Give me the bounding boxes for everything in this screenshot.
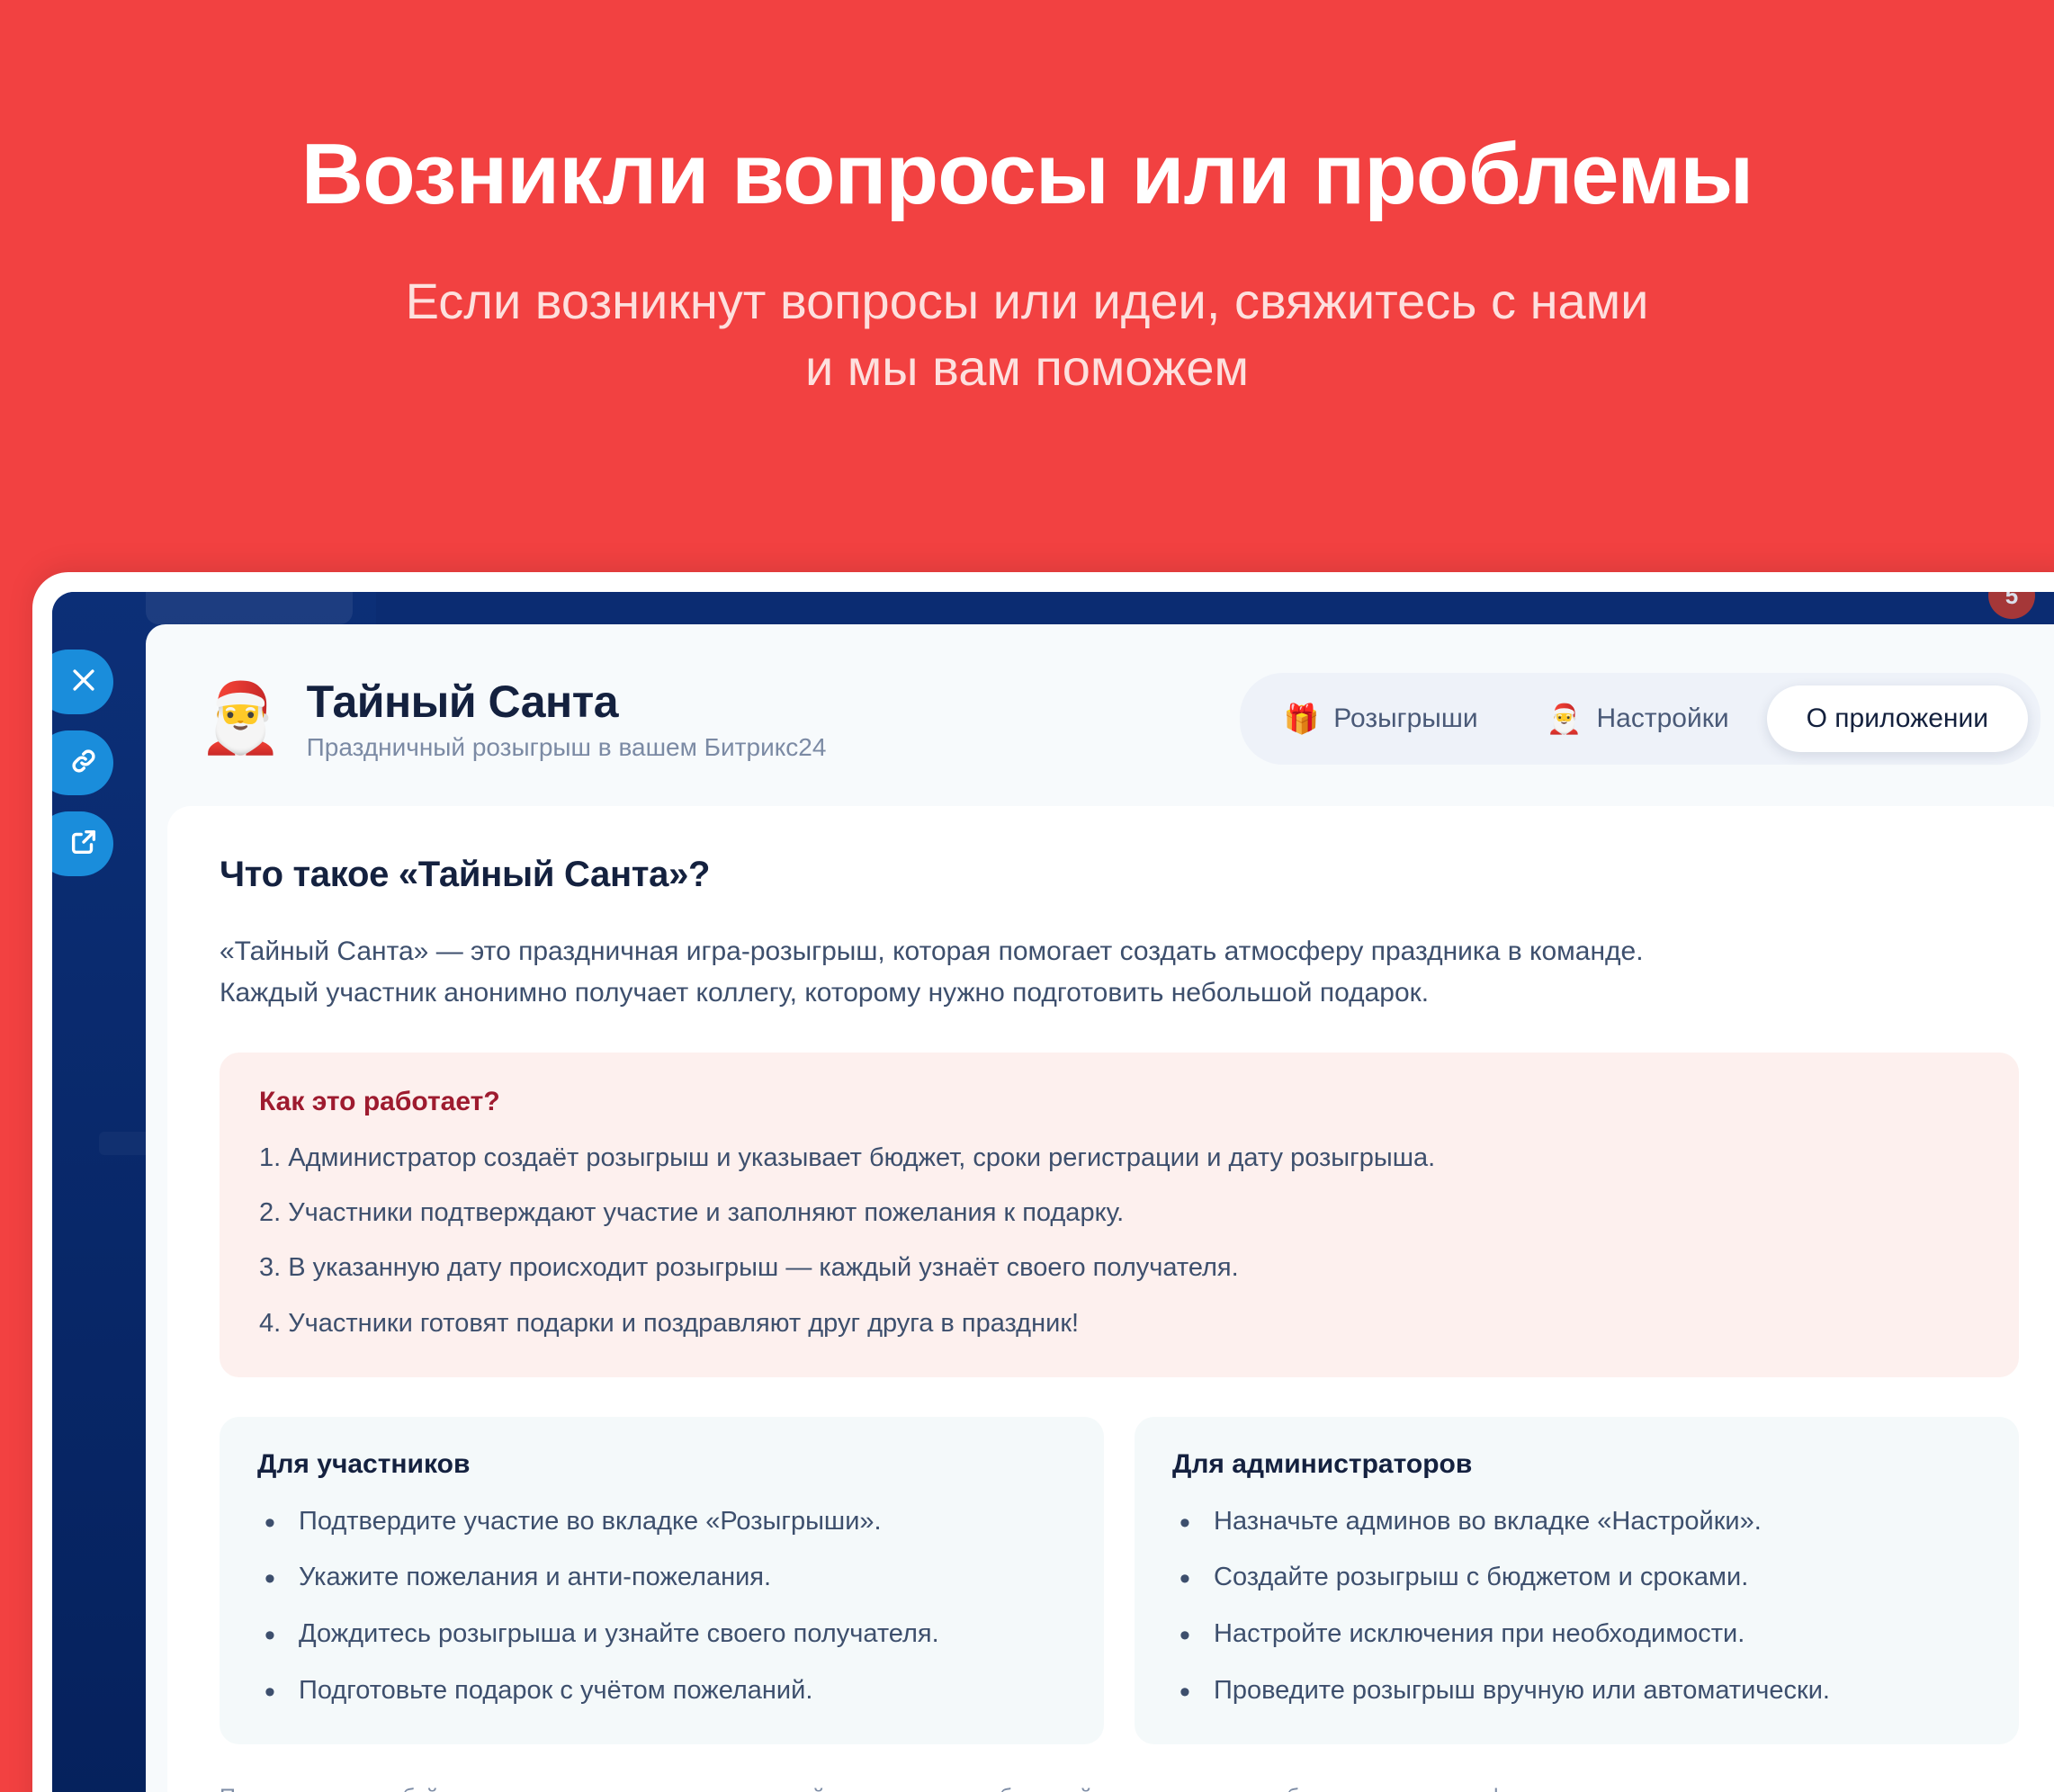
admins-list: Назначьте админов во вкладке «Настройки»… — [1172, 1505, 1981, 1708]
list-item: 1. Администратор создаёт розыгрыш и указ… — [259, 1141, 1979, 1176]
list-item: 4. Участники готовят подарки и поздравля… — [259, 1306, 1979, 1341]
tab-settings[interactable]: 🎅 Настройки — [1516, 684, 1760, 754]
hero-subtitle-line-1: Если возникнут вопросы или идеи, свяжите… — [0, 268, 2054, 335]
notification-badge[interactable]: 5 — [1988, 592, 2035, 619]
portal-tab-stub — [146, 592, 353, 624]
link-icon — [68, 746, 99, 781]
list-item: Настройте исключения при необходимости. — [1172, 1617, 1981, 1652]
app-identity: 🎅 Тайный Санта Праздничный розыгрыш в ва… — [198, 676, 826, 762]
tab-about-label: О приложении — [1807, 703, 1988, 734]
open-in-new-tab-button[interactable] — [52, 811, 113, 876]
list-item: Укажите пожелания и анти-пожелания. — [257, 1561, 1066, 1595]
hero-banner: Возникли вопросы или проблемы Если возни… — [0, 0, 2054, 400]
app-tabs: 🎁 Розыгрыши 🎅 Настройки О приложении — [1240, 673, 2041, 765]
list-item: Подготовьте подарок с учётом пожеланий. — [257, 1674, 1066, 1708]
hero-subtitle-line-2: и мы вам поможем — [0, 335, 2054, 401]
hero-title: Возникли вопросы или проблемы — [0, 128, 2054, 221]
list-item: Создайте розыгрыш с бюджетом и сроками. — [1172, 1561, 1981, 1595]
participants-list: Подтвердите участие во вкладке «Розыгрыш… — [257, 1505, 1066, 1708]
list-item: Назначьте админов во вкладке «Настройки»… — [1172, 1505, 1981, 1539]
close-button[interactable] — [52, 650, 113, 714]
about-lead: «Тайный Санта» — это праздничная игра-ро… — [220, 931, 2019, 1013]
bitrix24-portal: 5 — [52, 592, 2054, 1792]
santa-icon: 🎅 — [198, 685, 283, 753]
about-card: Что такое «Тайный Санта»? «Тайный Санта»… — [167, 806, 2054, 1792]
list-item: Проведите розыгрыш вручную или автоматич… — [1172, 1674, 1981, 1708]
santa-group-icon: 🎅 — [1547, 702, 1583, 736]
participants-title: Для участников — [257, 1449, 1066, 1480]
close-icon — [68, 665, 99, 700]
app-subtitle: Праздничный розыгрыш в вашем Битрикс24 — [307, 733, 827, 762]
list-item: 3. В указанную дату происходит розыгрыш … — [259, 1250, 1979, 1286]
tab-raffles[interactable]: 🎁 Розыгрыши — [1252, 684, 1508, 754]
admins-title: Для администраторов — [1172, 1449, 1981, 1480]
about-lead-line-1: «Тайный Санта» — это праздничная игра-ро… — [220, 931, 2019, 972]
how-it-works-box: Как это работает? 1. Администратор созда… — [220, 1053, 2019, 1377]
how-it-works-steps: 1. Администратор создаёт розыгрыш и указ… — [259, 1141, 1979, 1341]
app-header: 🎅 Тайный Санта Праздничный розыгрыш в ва… — [146, 624, 2054, 765]
copy-link-button[interactable] — [52, 730, 113, 795]
gift-icon: 🎁 — [1283, 702, 1319, 736]
about-hint: Подсказка: попробуйте сначала настроить … — [220, 1782, 2019, 1792]
device-frame: 5 — [32, 572, 2054, 1792]
list-item: Дождитесь розыгрыша и узнайте своего пол… — [257, 1617, 1066, 1652]
list-item: 2. Участники подтверждают участие и запо… — [259, 1196, 1979, 1231]
tab-settings-label: Настройки — [1597, 703, 1729, 734]
roles-columns: Для участников Подтвердите участие во вк… — [220, 1417, 2019, 1744]
app-title: Тайный Санта — [307, 676, 827, 728]
how-it-works-title: Как это работает? — [259, 1087, 1979, 1117]
admins-card: Для администраторов Назначьте админов во… — [1135, 1417, 2019, 1744]
app-surface: 🎅 Тайный Санта Праздничный розыгрыш в ва… — [146, 624, 2054, 1792]
external-link-icon — [68, 827, 99, 862]
slider-action-rail — [52, 650, 113, 876]
about-lead-line-2: Каждый участник анонимно получает коллег… — [220, 972, 2019, 1014]
about-heading: Что такое «Тайный Санта»? — [220, 855, 2019, 895]
tab-raffles-label: Розыгрыши — [1333, 703, 1477, 734]
participants-card: Для участников Подтвердите участие во вк… — [220, 1417, 1104, 1744]
hero-subtitle: Если возникнут вопросы или идеи, свяжите… — [0, 268, 2054, 401]
tab-about[interactable]: О приложении — [1767, 685, 2028, 752]
list-item: Подтвердите участие во вкладке «Розыгрыш… — [257, 1505, 1066, 1539]
